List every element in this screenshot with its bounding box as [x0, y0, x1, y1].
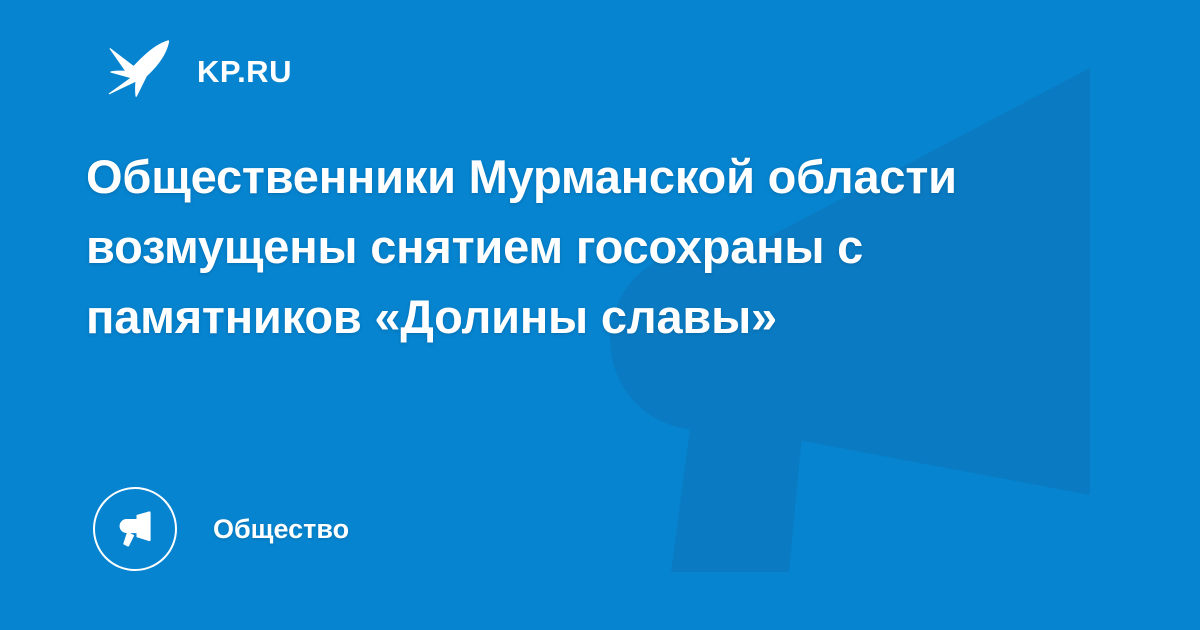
article-share-card: KP.RU Общественники Мурманской области в…	[0, 0, 1200, 630]
rubric-label: Общество	[213, 516, 349, 543]
rubric-category[interactable]: Общество	[93, 487, 349, 571]
brand-wordmark: KP.RU	[197, 56, 292, 87]
megaphone-icon	[93, 487, 177, 571]
page-title: Общественники Мурманской области возмуще…	[86, 142, 1106, 352]
brand-header[interactable]: KP.RU	[104, 33, 292, 109]
swallow-bird-logo-icon	[104, 34, 178, 108]
